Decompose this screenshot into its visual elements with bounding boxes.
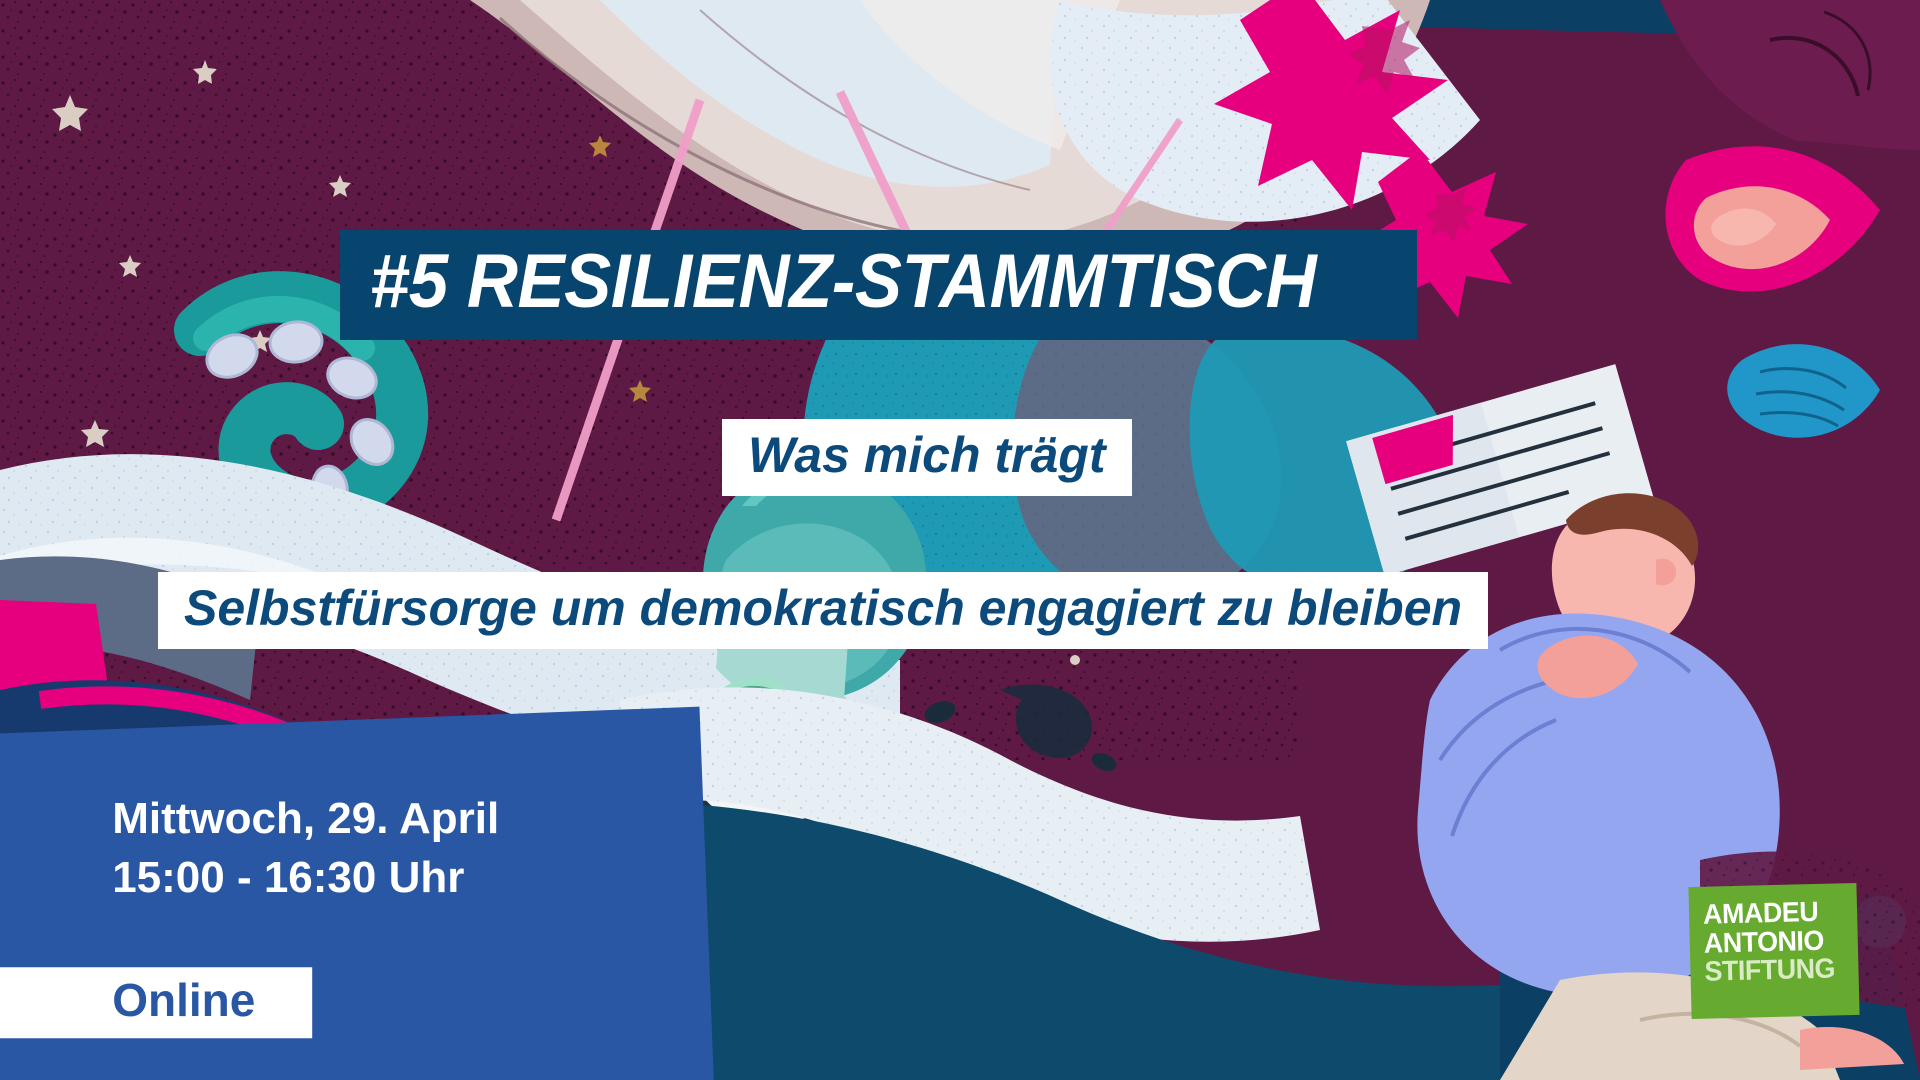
event-date: Mittwoch, 29. April [112, 789, 499, 848]
event-time: 15:00 - 16:30 Uhr [112, 849, 499, 908]
text-overlay: #5 RESILIENZ-STAMMTISCH Was mich trägt S… [0, 0, 1920, 1080]
poster-title-banner: #5 RESILIENZ-STAMMTISCH [340, 230, 1417, 340]
poster-subtitle: Was mich trägt [748, 429, 1106, 482]
poster-tagline-banner: Selbstfürsorge um demokratisch engagiert… [158, 572, 1488, 649]
poster-tagline: Selbstfürsorge um demokratisch engagiert… [184, 582, 1462, 635]
event-poster: #5 RESILIENZ-STAMMTISCH Was mich trägt S… [0, 0, 1920, 1080]
poster-title: #5 RESILIENZ-STAMMTISCH [370, 244, 1316, 320]
amadeu-antonio-stiftung-logo: AMADEU ANTONIO STIFTUNG [1688, 883, 1859, 1019]
poster-subtitle-banner: Was mich trägt [722, 419, 1132, 496]
event-info-content: Mittwoch, 29. April 15:00 - 16:30 Uhr On… [112, 789, 499, 908]
logo-line-stiftung: STIFTUNG [1704, 954, 1843, 986]
event-info-panel: Mittwoch, 29. April 15:00 - 16:30 Uhr On… [0, 707, 715, 1080]
event-location: Online [112, 973, 312, 1028]
event-location-chip: Online [0, 967, 312, 1038]
logo-wordmark: AMADEU ANTONIO STIFTUNG [1703, 897, 1849, 986]
